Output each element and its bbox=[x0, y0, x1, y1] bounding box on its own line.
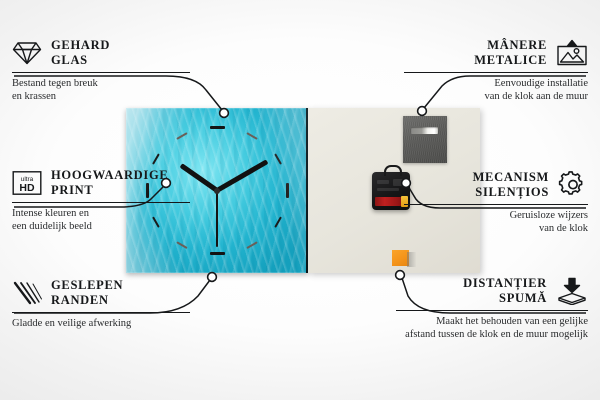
feature-title-line2: METALICE bbox=[474, 53, 547, 68]
feature-title-line2: SPUMĂ bbox=[463, 291, 547, 306]
feature-desc-line2: van de klok bbox=[392, 222, 588, 235]
feature-title-line1: GESLEPEN bbox=[51, 278, 123, 293]
feature-desc-line2: en krassen bbox=[12, 90, 202, 103]
feature-hoogwaardige-print[interactable]: ultra HD HOOGWAARDIGE PRINT Intense kleu… bbox=[12, 168, 202, 233]
foam-spacer-arrow-icon bbox=[556, 277, 588, 305]
feature-desc-line1: Gladde en veilige afwerking bbox=[12, 317, 202, 330]
ultra-hd-icon: ultra HD bbox=[12, 170, 42, 196]
feature-header: GEHARD GLAS bbox=[12, 38, 202, 68]
feature-title-line1: GEHARD bbox=[51, 38, 110, 53]
feature-description: Eenvoudige installatie van de klok aan d… bbox=[392, 77, 588, 103]
feature-description: Bestand tegen breuk en krassen bbox=[12, 77, 202, 103]
feature-title-line1: MÂNERE bbox=[474, 38, 547, 53]
wire-dot-geslepen-randen bbox=[208, 273, 217, 282]
feature-title-line2: RANDEN bbox=[51, 293, 123, 308]
gear-icon bbox=[558, 171, 588, 199]
feature-title: DISTANȚIER SPUMĂ bbox=[463, 276, 547, 306]
bevelled-edges-icon bbox=[12, 280, 42, 306]
feature-header: MECANISM SILENȚIOS bbox=[392, 170, 588, 200]
feature-desc-line1: Intense kleuren en bbox=[12, 207, 202, 220]
feature-title-line1: MECANISM bbox=[473, 170, 549, 185]
feature-divider bbox=[12, 72, 190, 73]
feature-divider bbox=[12, 202, 190, 203]
feature-distantier-spuma[interactable]: DISTANȚIER SPUMĂ Maakt het behouden van … bbox=[384, 276, 588, 341]
feature-gehard-glas[interactable]: GEHARD GLAS Bestand tegen breuk en krass… bbox=[12, 38, 202, 103]
framed-picture-hook-icon bbox=[556, 39, 588, 67]
wire-dot-gehard-glas bbox=[220, 109, 229, 118]
feature-header: GESLEPEN RANDEN bbox=[12, 278, 202, 308]
infographic-canvas: GEHARD GLAS Bestand tegen breuk en krass… bbox=[0, 0, 600, 400]
feature-header: ultra HD HOOGWAARDIGE PRINT bbox=[12, 168, 202, 198]
feature-divider bbox=[404, 72, 588, 73]
feature-title: MÂNERE METALICE bbox=[474, 38, 547, 68]
feature-mecanism-silentios[interactable]: MECANISM SILENȚIOS Geruisloze wijzers va… bbox=[392, 170, 588, 235]
feature-title-line2: SILENȚIOS bbox=[473, 185, 549, 200]
feature-desc-line1: Eenvoudige installatie bbox=[392, 77, 588, 90]
svg-text:HD: HD bbox=[19, 182, 35, 194]
feature-desc-line2: een duidelijk beeld bbox=[12, 220, 202, 233]
feature-description: Intense kleuren en een duidelijk beeld bbox=[12, 207, 202, 233]
feature-desc-line1: Geruisloze wijzers bbox=[392, 209, 588, 222]
feature-header: DISTANȚIER SPUMĂ bbox=[384, 276, 588, 306]
feature-manere-metalice[interactable]: MÂNERE METALICE Eenvoudige installatie v… bbox=[392, 38, 588, 103]
wire-dot-manere-metalice bbox=[418, 107, 427, 116]
feature-desc-line2: van de klok aan de muur bbox=[392, 90, 588, 103]
diamond-icon bbox=[12, 40, 42, 66]
feature-desc-line1: Maakt het behouden van een gelijke bbox=[384, 315, 588, 328]
feature-title-line2: GLAS bbox=[51, 53, 110, 68]
feature-title: GEHARD GLAS bbox=[51, 38, 110, 68]
feature-description: Geruisloze wijzers van de klok bbox=[392, 209, 588, 235]
feature-description: Maakt het behouden van een gelijke afsta… bbox=[384, 315, 588, 341]
feature-divider bbox=[12, 312, 190, 313]
feature-header: MÂNERE METALICE bbox=[392, 38, 588, 68]
feature-description: Gladde en veilige afwerking bbox=[12, 317, 202, 330]
feature-geslepen-randen[interactable]: GESLEPEN RANDEN Gladde en veilige afwerk… bbox=[12, 278, 202, 330]
feature-title-line1: HOOGWAARDIGE bbox=[51, 168, 168, 183]
feature-title: HOOGWAARDIGE PRINT bbox=[51, 168, 168, 198]
feature-title-line1: DISTANȚIER bbox=[463, 276, 547, 291]
feature-desc-line1: Bestand tegen breuk bbox=[12, 77, 202, 90]
feature-title: MECANISM SILENȚIOS bbox=[473, 170, 549, 200]
feature-title-line2: PRINT bbox=[51, 183, 168, 198]
feature-divider bbox=[404, 204, 588, 205]
feature-desc-line2: afstand tussen de klok en de muur mogeli… bbox=[384, 328, 588, 341]
feature-title: GESLEPEN RANDEN bbox=[51, 278, 123, 308]
feature-divider bbox=[396, 310, 588, 311]
